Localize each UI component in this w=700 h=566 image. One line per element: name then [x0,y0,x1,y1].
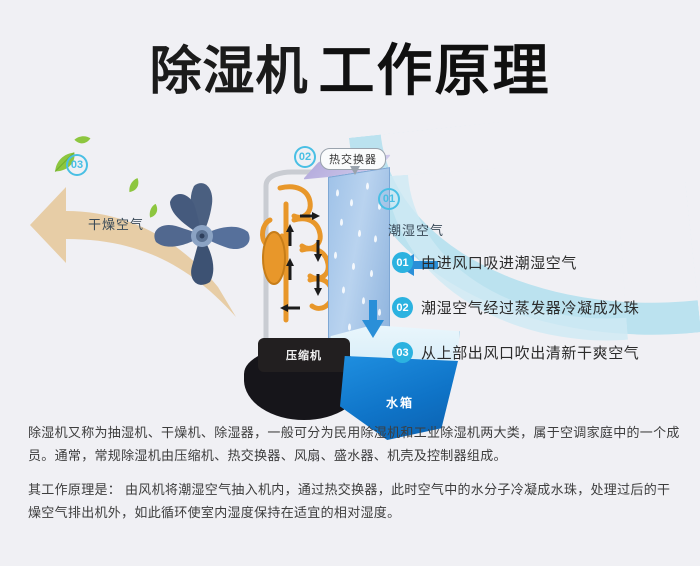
list-item: 02 潮湿空气经过蒸发器冷凝成水珠 [392,297,692,318]
step-badge-01: 01 [392,252,413,273]
water-tank-label: 水箱 [386,394,414,411]
page-title-part2: 工作原理 [319,39,551,102]
page-title: 除湿机工作原理 [0,26,700,107]
page-title-part1: 除湿机 [149,43,308,101]
compressor-label: 压缩机 [258,338,350,372]
step-badge-02: 02 [392,297,413,318]
description-paragraph-1: 除湿机又称为抽湿机、干燥机、除湿器，一般可分为民用除湿机和工业除湿机两大类，属于… [28,421,680,467]
drain-arrow-icon [362,320,384,338]
heat-exchanger-callout-tail-icon [350,166,360,175]
step-text-01: 由进风口吸进潮湿空气 [421,252,577,273]
list-item: 03 从上部出风口吹出清新干爽空气 [392,342,692,363]
list-item: 01 由进风口吸进潮湿空气 [392,252,692,273]
step-badge-03: 03 [392,342,413,363]
dry-air-label: 干燥空气 [88,214,144,233]
humid-air-label: 潮湿空气 [388,220,444,239]
compressor-body-icon: 压缩机 [258,338,350,372]
diagram-badge-01: 01 [378,188,400,210]
steps-list: 01 由进风口吸进潮湿空气 02 潮湿空气经过蒸发器冷凝成水珠 03 从上部出风… [392,252,692,387]
step-text-02: 潮湿空气经过蒸发器冷凝成水珠 [421,297,639,318]
description-paragraph-2: 其工作原理是： 由风机将潮湿空气抽入机内，通过热交换器，此时空气中的水分子冷凝成… [28,478,680,524]
drain-arrow-tail-icon [369,300,377,322]
diagram-badge-02: 02 [294,146,316,168]
leaf-icon [72,131,92,149]
diagram-badge-03: 03 [66,154,88,176]
step-text-03: 从上部出风口吹出清新干爽空气 [421,342,639,363]
